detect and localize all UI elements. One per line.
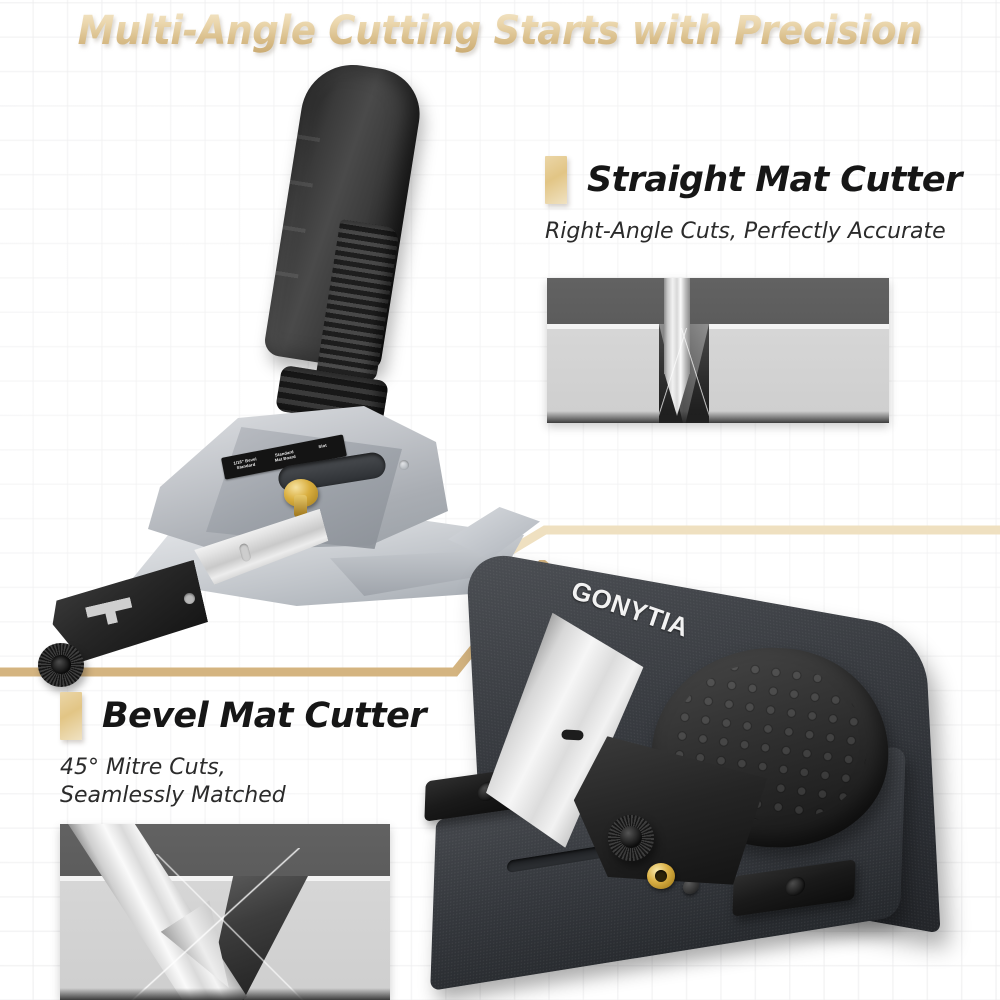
bevel-mat-cutter-product-photo: GONYTIA [415,585,1000,1000]
section-subtitle-straight: Right-Angle Cuts, Perfectly Accurate [545,218,985,246]
section-straight-header: Straight Mat Cutter Right-Angle Cuts, Pe… [545,156,985,246]
label-marking-3: Slot [311,442,335,451]
straight-cut-diagram [547,278,889,423]
accessory-plate-hole [184,593,195,604]
accent-bar-straight [545,156,567,204]
knurled-black-knob [38,643,84,687]
accent-bar-bevel [60,692,82,740]
cut-highlight-right [681,328,709,416]
section-title-bevel: Bevel Mat Cutter [102,699,426,734]
cutter-pivot-screw [399,460,409,470]
mat-board-top-layer [547,278,889,324]
mat-board-bottom-layer [547,329,889,423]
section-bevel-header: Bevel Mat Cutter 45° Mitre Cuts, Seamles… [60,692,460,810]
label-marking-2: Standard Mat Board [267,449,302,465]
bevel-cut-diagram [60,824,390,1000]
bevel-highlight-ray-2 [156,854,306,1000]
label-marking-1: 1/16" Bevel Standard [228,456,263,472]
section-subtitle-bevel: 45° Mitre Cuts, Seamlessly Matched [60,754,460,810]
mat-board-base-shadow [60,988,390,1000]
brass-insert [647,863,675,889]
knurled-black-knob [608,815,654,861]
mat-board-base-shadow [547,411,889,423]
section-title-straight: Straight Mat Cutter [587,163,962,198]
straight-mat-cutter-product-photo: 1/16" Bevel Standard Standard Mat Board … [20,55,520,565]
brass-thumbscrew [284,479,318,507]
page-title: Multi-Angle Cutting Starts with Precisio… [35,8,965,54]
